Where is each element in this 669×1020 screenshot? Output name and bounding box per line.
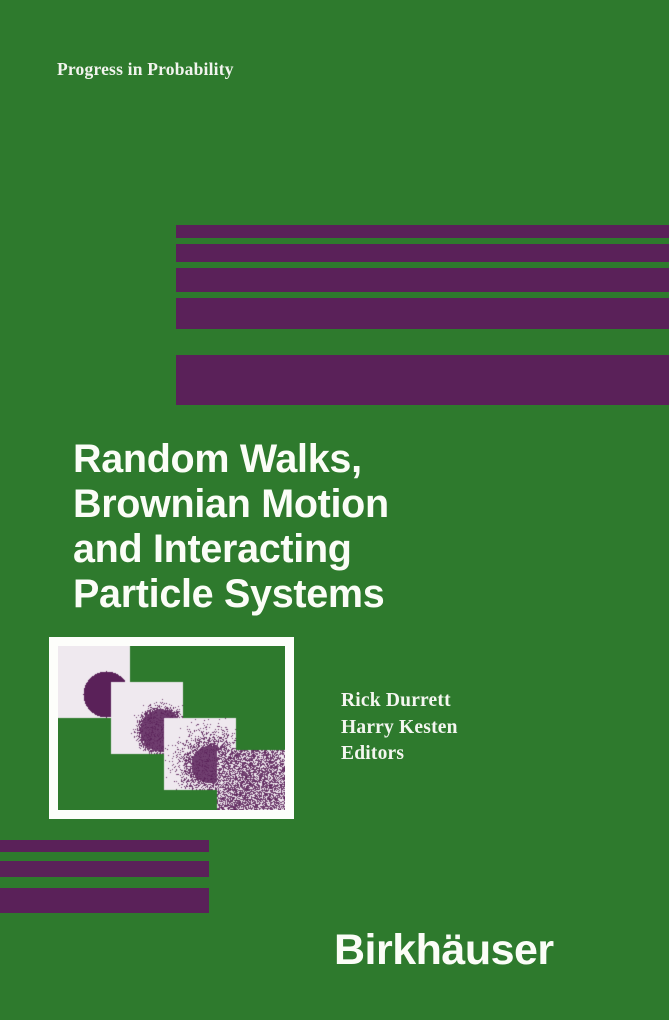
title-line: Random Walks,: [73, 437, 573, 482]
publisher-logo: Birkhäuser: [334, 926, 554, 975]
bottom-bar-group: [0, 840, 260, 920]
book-cover: Progress in Probability Random Walks, Br…: [0, 0, 669, 1020]
top-bar-group: [0, 0, 669, 420]
top-bar-2: [176, 244, 669, 262]
top-bar-1: [176, 225, 669, 238]
bottom-bar-1: [0, 840, 209, 852]
editor-name: Harry Kesten: [341, 715, 458, 742]
editors-role-label: Editors: [341, 741, 458, 768]
top-bar-5: [176, 355, 669, 405]
title-line: and Interacting: [73, 527, 573, 572]
editor-name: Rick Durrett: [341, 688, 458, 715]
bottom-bar-2: [0, 861, 209, 877]
top-bar-4: [176, 298, 669, 329]
bottom-bar-3: [0, 888, 209, 913]
illustration-canvas: [58, 646, 285, 810]
book-title: Random Walks, Brownian Motion and Intera…: [73, 437, 573, 617]
editors-block: Rick Durrett Harry Kesten Editors: [341, 688, 458, 768]
title-line: Brownian Motion: [73, 482, 573, 527]
diffusion-staircase-figure: [58, 646, 285, 810]
top-bar-3: [176, 268, 669, 292]
cover-illustration: [49, 637, 294, 819]
title-line: Particle Systems: [73, 572, 573, 617]
